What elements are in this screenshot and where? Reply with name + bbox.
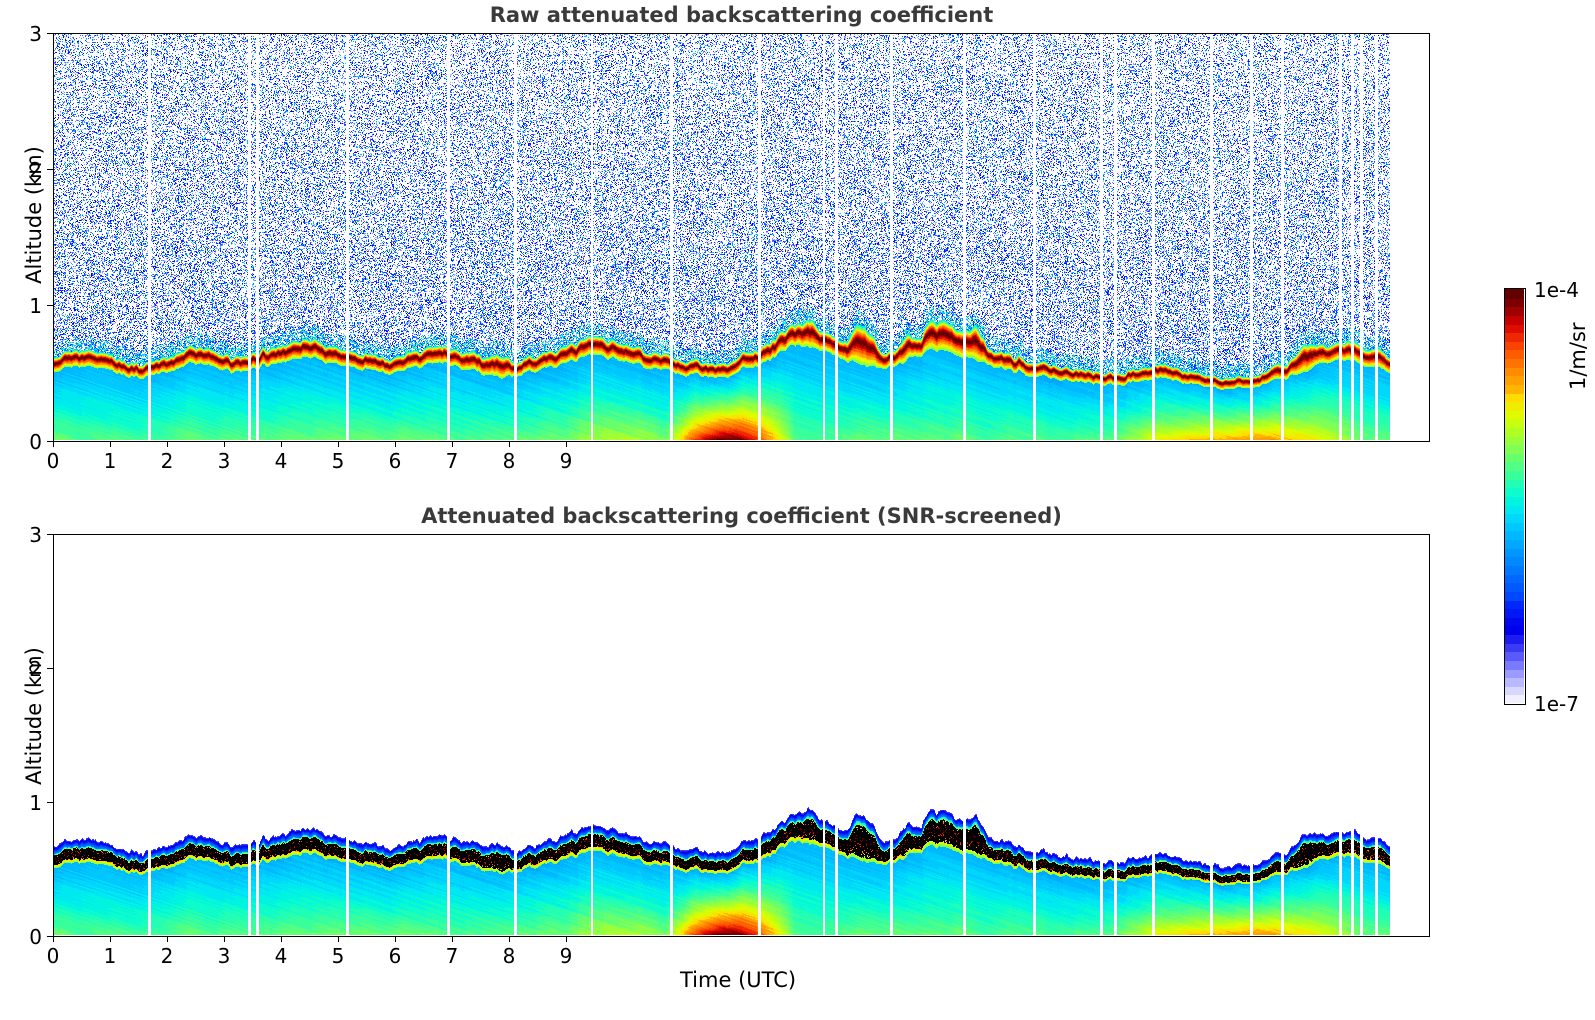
xticklabel-top-4: 4 — [261, 449, 301, 473]
colorbar-max-label: 1e-4 — [1534, 278, 1579, 302]
xtick-bot-3 — [224, 936, 225, 942]
xtick-bot-5 — [338, 936, 339, 942]
xtick-bot-0 — [53, 936, 54, 942]
xtick-bot-8 — [509, 936, 510, 942]
xtick-top-6 — [395, 441, 396, 447]
xtick-top-3 — [224, 441, 225, 447]
colorbar-min-label: 1e-7 — [1534, 692, 1579, 716]
xtick-top-8 — [509, 441, 510, 447]
ytick-bot-1 — [47, 802, 53, 803]
plot-area-raw[interactable] — [53, 33, 1430, 442]
xlabel-time: Time (UTC) — [680, 968, 796, 992]
xticklabel-top-2: 2 — [147, 449, 187, 473]
xticklabel-top-0: 0 — [33, 449, 73, 473]
ytick-top-3 — [47, 33, 53, 34]
ylabel-raw: Altitude (km) — [22, 125, 46, 305]
ytick-bot-2 — [47, 668, 53, 669]
panel-title-raw: Raw attenuated backscattering coefficien… — [53, 3, 1430, 27]
xticklabel-bot-5: 5 — [318, 944, 358, 968]
xticklabel-top-3: 3 — [204, 449, 244, 473]
ytick-top-2 — [47, 169, 53, 170]
colorbar[interactable] — [1504, 288, 1526, 705]
yticklabel-bot-3: 3 — [8, 523, 42, 547]
xticklabel-bot-6: 6 — [375, 944, 415, 968]
xtick-bot-2 — [167, 936, 168, 942]
xtick-bot-7 — [452, 936, 453, 942]
xticklabel-top-7: 7 — [432, 449, 472, 473]
xticklabel-bot-0: 0 — [33, 944, 73, 968]
xticklabel-top-8: 8 — [489, 449, 529, 473]
xticklabel-top-5: 5 — [318, 449, 358, 473]
xtick-bot-4 — [281, 936, 282, 942]
colorbar-unit-label: 1/m/sr — [1566, 322, 1590, 390]
xticklabel-bot-3: 3 — [204, 944, 244, 968]
xtick-top-1 — [110, 441, 111, 447]
xtick-top-7 — [452, 441, 453, 447]
xtick-top-9 — [566, 441, 567, 447]
xticklabel-bot-4: 4 — [261, 944, 301, 968]
ytick-top-1 — [47, 305, 53, 306]
plot-area-screened[interactable] — [53, 534, 1430, 937]
lidar-figure: Raw attenuated backscattering coefficien… — [0, 0, 1595, 1020]
xticklabel-top-6: 6 — [375, 449, 415, 473]
panel-title-screened: Attenuated backscattering coefficient (S… — [53, 504, 1430, 528]
xticklabel-bot-8: 8 — [489, 944, 529, 968]
xtick-bot-6 — [395, 936, 396, 942]
ylabel-screened: Altitude (km) — [22, 626, 46, 806]
xtick-top-4 — [281, 441, 282, 447]
xtick-bot-1 — [110, 936, 111, 942]
ytick-bot-3 — [47, 534, 53, 535]
xticklabel-bot-1: 1 — [90, 944, 130, 968]
xtick-top-0 — [53, 441, 54, 447]
xtick-top-5 — [338, 441, 339, 447]
xticklabel-bot-2: 2 — [147, 944, 187, 968]
yticklabel-top-3: 3 — [8, 22, 42, 46]
xtick-bot-9 — [566, 936, 567, 942]
xticklabel-bot-7: 7 — [432, 944, 472, 968]
xticklabel-bot-9: 9 — [546, 944, 586, 968]
xtick-top-2 — [167, 441, 168, 447]
xticklabel-top-9: 9 — [546, 449, 586, 473]
xticklabel-top-1: 1 — [90, 449, 130, 473]
